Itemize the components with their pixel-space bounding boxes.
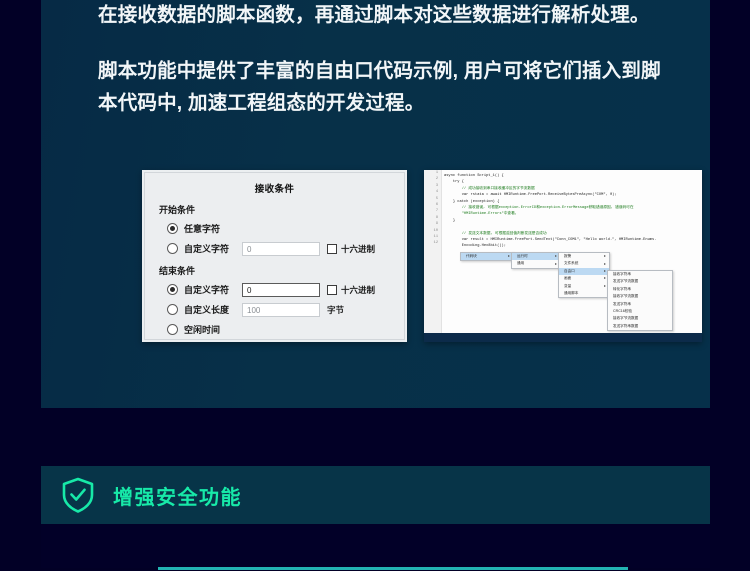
group-label-start: 开始条件 bbox=[159, 203, 394, 216]
menu-column-2: 报警文件系统自由口画面变量通用脚本 bbox=[558, 252, 610, 298]
option-row[interactable]: 空闲时间 bbox=[159, 320, 394, 339]
hex-checkbox[interactable] bbox=[327, 285, 337, 295]
group-label-end: 结束条件 bbox=[159, 264, 394, 277]
menu-column-0: 代码块 bbox=[460, 252, 514, 261]
line-number: 12 bbox=[424, 240, 441, 246]
chevron-right-icon bbox=[604, 255, 606, 257]
security-banner-title: 增强安全功能 bbox=[113, 481, 242, 510]
chevron-right-icon bbox=[508, 255, 510, 257]
menu-column-3: 接收字符串发送字节流数据转化字符串接收字节流数据发送字符串CRC16校验接收字节… bbox=[607, 270, 673, 331]
menu-item[interactable]: 接收字节流数据 bbox=[608, 293, 672, 300]
paragraph-block: 在接收数据的脚本函数，再通过脚本对这些数据进行解析处理。 脚本功能中提供了丰富的… bbox=[98, 0, 663, 119]
length-unit-label: 字节 bbox=[327, 304, 344, 316]
option-row[interactable]: 自定义字符 0 十六进制 bbox=[159, 280, 394, 299]
chevron-right-icon bbox=[604, 263, 606, 265]
menu-item[interactable]: CRC16校验 bbox=[608, 308, 672, 315]
option-row[interactable]: 任意字符 bbox=[159, 219, 394, 238]
chevron-right-icon bbox=[604, 277, 606, 279]
option-row[interactable]: 自定义长度 100 字节 bbox=[159, 300, 394, 319]
menu-item[interactable]: 接收字节流数据 bbox=[608, 315, 672, 322]
menu-item[interactable]: 发送字符串数据 bbox=[608, 323, 672, 330]
option-label: 自定义字符 bbox=[184, 242, 242, 255]
menu-column-1: 运行时通用 bbox=[511, 252, 561, 269]
option-label: 空闲时间 bbox=[184, 323, 242, 336]
menu-item[interactable]: 接收字符串 bbox=[608, 271, 672, 278]
radio-icon[interactable] bbox=[167, 223, 178, 234]
option-label: 自定义字符 bbox=[184, 283, 242, 296]
menu-item[interactable]: 代码块 bbox=[461, 253, 513, 260]
option-label: 自定义长度 bbox=[184, 303, 242, 316]
editor-status-bar bbox=[424, 333, 702, 342]
dialog-body: 开始条件 任意字符 自定义字符 0 十六进制 bbox=[159, 197, 394, 340]
menu-item[interactable]: 自由口 bbox=[559, 268, 609, 275]
option-row[interactable]: 自定义字符 0 十六进制 bbox=[159, 239, 394, 258]
paragraph-2: 脚本功能中提供了丰富的自由口代码示例, 用户可将它们插入到脚本代码中, 加速工程… bbox=[98, 55, 663, 119]
hex-checkbox[interactable] bbox=[327, 244, 337, 254]
code-editor: 123456789101112 async function Script_1(… bbox=[424, 170, 702, 342]
bottom-accent-rule bbox=[158, 567, 628, 570]
dialog-title: 接收条件 bbox=[145, 181, 404, 195]
below-banner-strip bbox=[41, 524, 710, 568]
end-custom-char-input[interactable]: 0 bbox=[242, 283, 320, 297]
page-root: 在接收数据的脚本函数，再通过脚本对这些数据进行解析处理。 脚本功能中提供了丰富的… bbox=[0, 0, 750, 571]
shield-check-icon bbox=[61, 476, 95, 514]
radio-icon[interactable] bbox=[167, 284, 178, 295]
receive-condition-dialog: 接收条件 开始条件 任意字符 自定义字符 0 bbox=[144, 172, 405, 340]
menu-item[interactable]: 报警 bbox=[559, 253, 609, 260]
screenshot-receive-condition: 接收条件 开始条件 任意字符 自定义字符 0 bbox=[142, 170, 407, 342]
screenshot-code-editor: 123456789101112 async function Script_1(… bbox=[424, 170, 702, 342]
menu-item[interactable]: 变量 bbox=[559, 283, 609, 290]
context-menu-cascade: 代码块运行时通用报警文件系统自由口画面变量通用脚本接收字符串发送字节流数据转化字… bbox=[460, 252, 700, 340]
menu-item[interactable]: 运行时 bbox=[512, 253, 560, 260]
radio-icon[interactable] bbox=[167, 324, 178, 335]
code-text: async function Script_1() { try { // 成功接… bbox=[444, 173, 700, 262]
chevron-right-icon bbox=[604, 285, 606, 287]
chevron-right-icon bbox=[604, 270, 606, 272]
custom-char-input[interactable]: 0 bbox=[242, 242, 320, 256]
security-banner: 增强安全功能 bbox=[41, 466, 710, 524]
custom-length-input[interactable]: 100 bbox=[242, 303, 320, 317]
menu-item[interactable]: 通用 bbox=[512, 260, 560, 267]
content-panel: 在接收数据的脚本函数，再通过脚本对这些数据进行解析处理。 脚本功能中提供了丰富的… bbox=[41, 0, 710, 408]
menu-item[interactable]: 转化字符串 bbox=[608, 286, 672, 293]
menu-item[interactable]: 发送字节流数据 bbox=[608, 278, 672, 285]
radio-icon[interactable] bbox=[167, 304, 178, 315]
paragraph-1: 在接收数据的脚本函数，再通过脚本对这些数据进行解析处理。 bbox=[98, 0, 663, 31]
menu-item[interactable]: 画面 bbox=[559, 275, 609, 282]
screenshot-row: 接收条件 开始条件 任意字符 自定义字符 0 bbox=[142, 170, 702, 342]
menu-item[interactable]: 通用脚本 bbox=[559, 290, 609, 297]
chevron-right-icon bbox=[555, 263, 557, 265]
hex-checkbox-label: 十六进制 bbox=[341, 284, 375, 296]
hex-checkbox-label: 十六进制 bbox=[341, 243, 375, 255]
menu-item[interactable]: 发送字符串 bbox=[608, 301, 672, 308]
chevron-right-icon bbox=[555, 255, 557, 257]
radio-icon[interactable] bbox=[167, 243, 178, 254]
menu-item[interactable]: 文件系统 bbox=[559, 260, 609, 267]
option-label: 任意字符 bbox=[184, 222, 242, 235]
line-number-gutter: 123456789101112 bbox=[424, 170, 442, 342]
